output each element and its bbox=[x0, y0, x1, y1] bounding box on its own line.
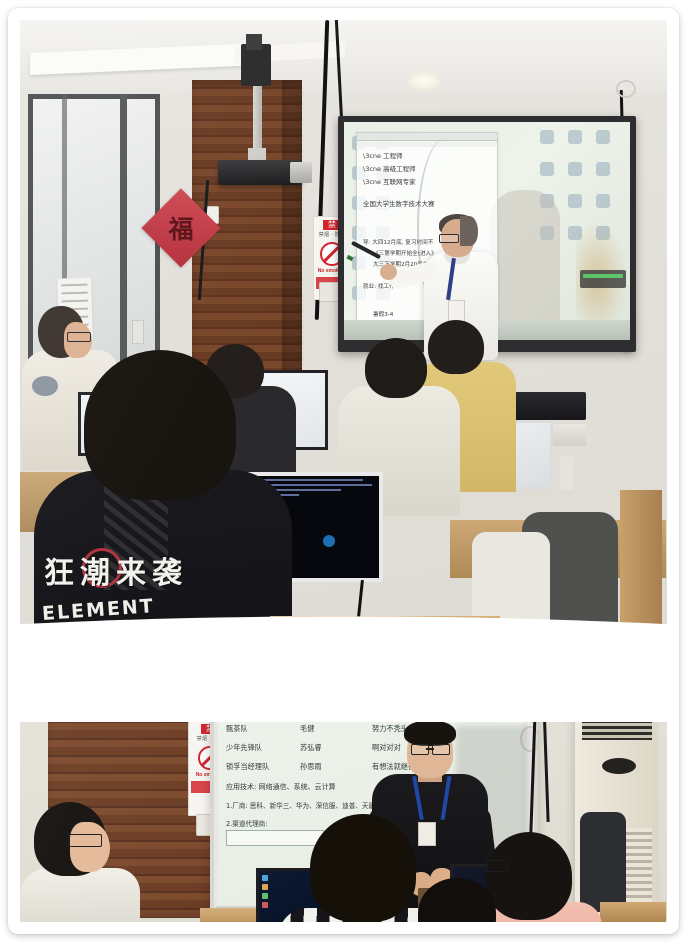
tshirt-chinese-slogan: 狂潮来袭 bbox=[44, 548, 224, 596]
row-slogan: 不走寻常路 bbox=[372, 686, 514, 696]
audience-glasses-icon bbox=[486, 860, 508, 872]
foreground-student-head bbox=[84, 350, 236, 500]
row-team: 少年先锋队 bbox=[226, 743, 300, 753]
taskbar-icon bbox=[262, 893, 268, 899]
desktop-icon bbox=[568, 162, 582, 176]
app-icon bbox=[323, 535, 335, 547]
audience-head bbox=[486, 832, 572, 920]
water-bottle bbox=[560, 456, 574, 490]
desktop-icon bbox=[568, 194, 582, 208]
instructor-glasses-icon bbox=[439, 234, 459, 243]
presenter-hair bbox=[404, 720, 456, 746]
collage-page: 福 禁 禁烟 · 防火 No smoking bbox=[0, 0, 687, 942]
window-ribbon bbox=[357, 141, 497, 147]
desktop-icon bbox=[540, 130, 554, 144]
fu-character-label: 福 bbox=[153, 200, 209, 256]
presenter-glasses-icon bbox=[432, 744, 450, 755]
window-titlebar bbox=[357, 133, 497, 141]
desktop-icon bbox=[596, 194, 610, 208]
row-leader: 孙思雨 bbox=[300, 762, 372, 772]
wall-switch bbox=[132, 320, 144, 344]
table-row: Bug最多队 王齐凡 每天风风火火改Bug bbox=[226, 705, 514, 715]
bag-strap bbox=[32, 376, 58, 396]
desktop-icon bbox=[596, 130, 610, 144]
presenter-id-badge bbox=[418, 822, 436, 846]
audience-torso bbox=[20, 868, 140, 922]
desk bbox=[600, 902, 666, 922]
air-conditioner-vent-icon bbox=[582, 678, 652, 740]
row-team: Bug最多队 bbox=[226, 705, 300, 715]
cable-hook-icon bbox=[616, 80, 636, 98]
taskbar-icon bbox=[262, 884, 268, 890]
wood-post bbox=[620, 490, 662, 660]
student-head bbox=[428, 320, 484, 374]
photo-top-classroom-wide: 福 禁 禁烟 · 防火 No smoking bbox=[20, 20, 667, 660]
desktop-icon bbox=[568, 130, 582, 144]
audience-face bbox=[70, 822, 110, 872]
audience-shirt-logo bbox=[48, 888, 74, 902]
photo-card-frame: 福 禁 禁烟 · 防火 No smoking bbox=[8, 8, 679, 934]
projector-bracket-top bbox=[246, 34, 262, 50]
chair-backrest bbox=[580, 812, 626, 912]
taskbar-icon bbox=[262, 875, 268, 881]
taskbar-icon bbox=[262, 902, 268, 908]
table-row: 奇思妙想 唐南宇 不走寻常路 bbox=[226, 686, 514, 696]
presenter-glasses-bridge bbox=[426, 748, 434, 750]
audience-glasses-icon bbox=[68, 834, 102, 847]
row-team: 奇思妙想 bbox=[226, 686, 300, 696]
photo-card-inner: 福 禁 禁烟 · 防火 No smoking bbox=[20, 20, 667, 922]
instructor-id-badge bbox=[448, 300, 465, 322]
desktop-icon bbox=[596, 162, 610, 176]
row-team: 甄茶队 bbox=[226, 724, 300, 734]
student-head bbox=[365, 338, 427, 398]
projector-ceiling-bracket bbox=[241, 44, 271, 86]
desktop-taskbar-widget bbox=[580, 270, 626, 288]
student-glasses-icon bbox=[67, 332, 91, 342]
ceiling-downlight-icon bbox=[410, 74, 438, 88]
row-team: 锁孚当经理队 bbox=[226, 762, 300, 772]
photo-bottom-presenter: 禁 禁烟 · 防火 No smoking 奇思妙想 唐南宇 不走寻常路 bbox=[20, 616, 667, 922]
desktop-icon bbox=[540, 162, 554, 176]
presenter-glasses-icon bbox=[411, 744, 429, 755]
row-leader: 苏弘睿 bbox=[300, 743, 372, 753]
row-leader: 王齐凡 bbox=[300, 705, 372, 715]
instructor-hair-side bbox=[460, 216, 478, 246]
computer-mouse bbox=[340, 630, 380, 660]
air-conditioner-display bbox=[602, 758, 636, 774]
row-slogan: 每天风风火火改Bug bbox=[372, 705, 514, 715]
office-chair-on-screen bbox=[490, 190, 560, 330]
whiteboard-blank-box bbox=[226, 830, 324, 846]
row-leader: 唐南宇 bbox=[300, 686, 372, 696]
row-leader: 毛健 bbox=[300, 724, 372, 734]
audience-head bbox=[310, 814, 416, 922]
projector-lens-icon bbox=[290, 162, 312, 183]
instructor-hand bbox=[380, 264, 397, 280]
